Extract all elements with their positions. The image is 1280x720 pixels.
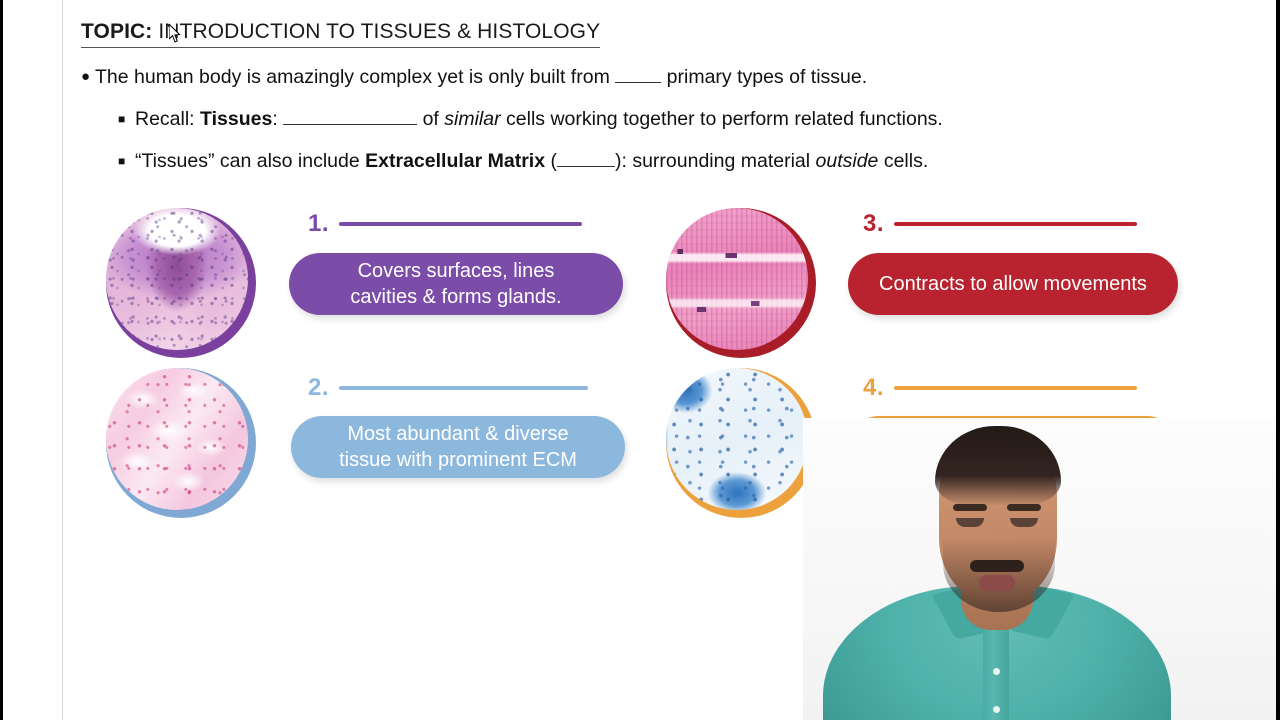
tissue-1-description-pill: Covers surfaces, lines cavities & forms … bbox=[289, 253, 623, 315]
bullet-dot-icon: ● bbox=[81, 68, 95, 85]
tissue-4-number: 4. bbox=[863, 374, 884, 402]
epithelial-tissue-micrograph bbox=[106, 208, 256, 358]
nervous-tissue-micrograph bbox=[666, 368, 816, 518]
bullet-1-text-a: The human body is amazingly complex yet … bbox=[95, 66, 610, 88]
connective-tissue-micrograph bbox=[106, 368, 256, 518]
presenter-shirt-button bbox=[993, 706, 1000, 713]
title-main: INTRODUCTION TO TISSUES & HISTOLOGY bbox=[158, 20, 600, 43]
presenter-shirt-button bbox=[993, 668, 1000, 675]
bullet-extracellular-matrix: ■“Tissues” can also include Extracellula… bbox=[118, 150, 928, 173]
title-label: TOPIC: bbox=[81, 20, 152, 43]
bullet-2-text-a: Recall: bbox=[135, 108, 195, 130]
tissue-1-desc-line1: Covers surfaces, lines bbox=[358, 260, 555, 282]
tissue-3-desc-line1: Contracts to allow movements bbox=[879, 273, 1147, 295]
bullet-square-icon: ■ bbox=[118, 112, 135, 126]
presenter-webcam-overlay[interactable] bbox=[803, 418, 1279, 720]
tissue-3-blank-line bbox=[894, 222, 1137, 226]
bullet-1-text-b: primary types of tissue. bbox=[667, 66, 867, 88]
fill-blank-ecm bbox=[557, 166, 615, 167]
bullet-3-paren-open: ( bbox=[550, 150, 557, 172]
bullet-3-italic: outside bbox=[816, 150, 879, 172]
tissue-1-desc-line2: cavities & forms glands. bbox=[350, 286, 561, 308]
tissue-2-number: 2. bbox=[308, 374, 329, 402]
bullet-2-text-b: of bbox=[423, 108, 439, 130]
page-title: TOPIC: INTRODUCTION TO TISSUES & HISTOLO… bbox=[81, 20, 981, 48]
fill-blank-definition bbox=[283, 124, 417, 125]
left-margin-rule bbox=[62, 0, 63, 720]
tissue-2-description-pill: Most abundant & diverse tissue with prom… bbox=[291, 416, 625, 478]
bullet-2-text-c: cells working together to perform relate… bbox=[506, 108, 943, 130]
presenter-mouth bbox=[979, 575, 1015, 591]
tissue-1-number-row: 1. bbox=[308, 210, 582, 238]
tissue-1-blank-line bbox=[339, 222, 582, 226]
tissue-4-number-row: 4. bbox=[863, 374, 1137, 402]
lecture-slide: TOPIC: INTRODUCTION TO TISSUES & HISTOLO… bbox=[0, 0, 1280, 720]
tissue-2-blank-line bbox=[339, 386, 588, 390]
presenter-moustache bbox=[970, 560, 1024, 572]
tissue-4-blank-line bbox=[894, 386, 1137, 390]
presenter-eyebrow-left bbox=[953, 504, 987, 511]
tissue-1-number: 1. bbox=[308, 210, 329, 238]
bullet-recall-tissues: ■Recall: Tissues: of similar cells worki… bbox=[118, 108, 943, 131]
tissue-3-number: 3. bbox=[863, 210, 884, 238]
bullet-3-text-c: cells. bbox=[884, 150, 928, 172]
presenter-eyebrow-right bbox=[1007, 504, 1041, 511]
bullet-3-text-b: surrounding material bbox=[632, 150, 810, 172]
tissue-2-desc-line1: Most abundant & diverse bbox=[347, 423, 568, 445]
bullet-primary-types: ●The human body is amazingly complex yet… bbox=[81, 66, 867, 89]
mouse-cursor-icon bbox=[169, 24, 181, 43]
fill-blank-count bbox=[615, 82, 661, 83]
bullet-3-bold: Extracellular Matrix bbox=[365, 150, 545, 172]
bullet-3-paren-close: ): bbox=[615, 150, 627, 172]
tissue-2-desc-line2: tissue with prominent ECM bbox=[339, 449, 577, 471]
bullet-square-icon: ■ bbox=[118, 154, 135, 168]
tissue-3-description-pill: Contracts to allow movements bbox=[848, 253, 1178, 315]
muscle-tissue-micrograph bbox=[666, 208, 816, 358]
tissue-3-number-row: 3. bbox=[863, 210, 1137, 238]
bullet-3-text-a: “Tissues” can also include bbox=[135, 150, 360, 172]
tissue-2-number-row: 2. bbox=[308, 374, 588, 402]
bullet-2-bold: Tissues bbox=[200, 108, 272, 130]
bullet-2-italic: similar bbox=[444, 108, 500, 130]
